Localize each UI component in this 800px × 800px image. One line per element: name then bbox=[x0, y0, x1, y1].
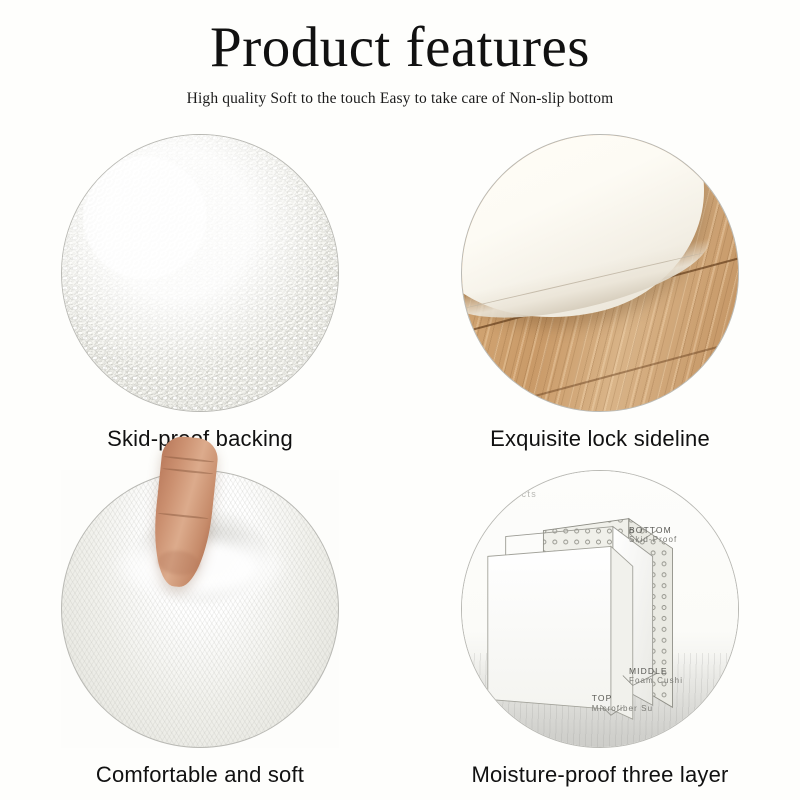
page-header: Product features High quality Soft to th… bbox=[0, 0, 800, 108]
feature-caption-exquisite-lock-sideline: Exquisite lock sideline bbox=[490, 426, 710, 452]
finger-crease bbox=[157, 512, 208, 519]
page-subtitle: High quality Soft to the touch Easy to t… bbox=[0, 90, 800, 108]
feature-cell-comfortable-and-soft: Comfortable and soft bbox=[0, 464, 400, 800]
feature-cell-exquisite-lock-sideline: Exquisite lock sideline bbox=[400, 128, 800, 464]
feature-image-moisture-proof-three-layer: BOTTOM Skid-Proof MIDDLE Foam Cushi TOP … bbox=[461, 470, 739, 748]
layer-label-top-title: TOP bbox=[592, 693, 653, 704]
feature-caption-moisture-proof-three-layer: Moisture-proof three layer bbox=[471, 762, 728, 788]
layer-label-bottom-title: BOTTOM bbox=[629, 525, 677, 536]
feature-cell-skid-proof-backing: Skid-proof backing bbox=[0, 128, 400, 464]
fingertip-shading bbox=[156, 548, 201, 576]
layer-label-middle: MIDDLE Foam Cushi bbox=[629, 666, 683, 687]
diagram-watermark: roducts bbox=[498, 489, 537, 499]
feature-image-wrap-4: BOTTOM Skid-Proof MIDDLE Foam Cushi TOP … bbox=[461, 470, 739, 748]
feature-image-wrap-3 bbox=[61, 470, 339, 748]
layer-label-bottom: BOTTOM Skid-Proof bbox=[629, 525, 677, 546]
feature-image-exquisite-lock-sideline bbox=[461, 134, 739, 412]
features-grid: Skid-proof backing Exquisite lock sideli… bbox=[0, 128, 800, 800]
page-title: Product features bbox=[0, 18, 800, 78]
wood-floor-scene bbox=[462, 135, 738, 411]
finger-crease bbox=[163, 455, 214, 462]
finger-crease bbox=[162, 467, 213, 474]
feature-image-wrap-2 bbox=[461, 134, 739, 412]
layer-label-middle-sub: Foam Cushi bbox=[629, 676, 683, 686]
feature-image-comfortable-and-soft bbox=[61, 470, 339, 748]
press-test-scene bbox=[61, 470, 339, 748]
layer-label-middle-title: MIDDLE bbox=[629, 666, 683, 677]
feature-caption-comfortable-and-soft: Comfortable and soft bbox=[96, 762, 304, 788]
feature-cell-moisture-proof-three-layer: BOTTOM Skid-Proof MIDDLE Foam Cushi TOP … bbox=[400, 464, 800, 800]
layer-label-top-sub: Microfiber Su bbox=[592, 704, 653, 714]
layer-label-bottom-sub: Skid-Proof bbox=[629, 535, 677, 545]
mesh-texture-graphic bbox=[62, 135, 338, 411]
layer-label-top: TOP Microfiber Su bbox=[592, 693, 653, 714]
three-layer-diagram: BOTTOM Skid-Proof MIDDLE Foam Cushi TOP … bbox=[462, 471, 738, 747]
feature-image-wrap-1 bbox=[61, 134, 339, 412]
feature-image-skid-proof-backing bbox=[61, 134, 339, 412]
